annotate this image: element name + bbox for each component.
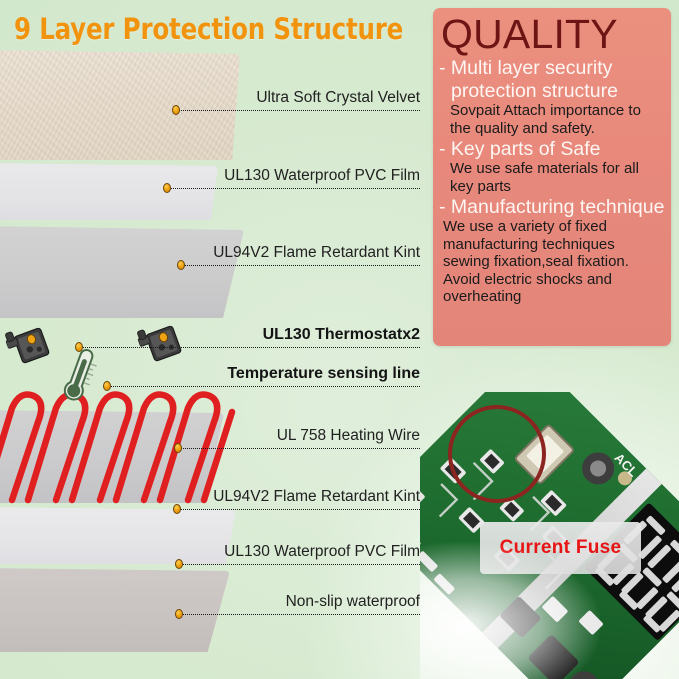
marker-dot-icon	[163, 183, 171, 193]
layer-callout-row: Temperature sensing line	[0, 386, 424, 387]
marker-dot-icon	[103, 381, 111, 391]
callout-leader-line	[181, 265, 420, 266]
layer-label: UL130 Thermostatx2	[263, 326, 420, 344]
callout-leader-line	[79, 347, 420, 348]
layer-slab-velvet	[0, 50, 240, 160]
layer-callout-row: UL130 Thermostatx2	[0, 347, 424, 348]
quality-section-1-head-line1: - Multi layer security	[439, 57, 665, 79]
layer-callout-row: Ultra Soft Crystal Velvet	[0, 110, 424, 111]
layer-slab-nonslip	[0, 568, 230, 652]
callout-leader-line	[179, 564, 420, 565]
layer-callout-row: UL 758 Heating Wire	[0, 448, 424, 449]
quality-section-3-head-line1: - Manufacturing technique	[439, 196, 665, 218]
quality-panel: QUALITY - Multi layer security protectio…	[433, 8, 671, 346]
current-fuse-callout: Current Fuse	[480, 522, 641, 574]
layer-label: UL 758 Heating Wire	[277, 427, 420, 445]
current-fuse-label: Current Fuse	[500, 537, 622, 559]
thermostat-module-icon	[2, 318, 57, 371]
layer-label: Ultra Soft Crystal Velvet	[256, 89, 420, 107]
callout-leader-line	[177, 509, 420, 510]
marker-dot-icon	[177, 260, 185, 270]
infographic-canvas: Ultra Soft Crystal VelvetUL130 Waterproo…	[0, 0, 679, 679]
layer-label: UL94V2 Flame Retardant Kint	[213, 488, 420, 506]
layer-slab-pvc-bottom	[0, 507, 236, 564]
marker-dot-icon	[175, 559, 183, 569]
callout-leader-line	[176, 110, 420, 111]
layer-callout-row: Non-slip waterproof	[0, 614, 424, 615]
layer-label: UL94V2 Flame Retardant Kint	[213, 244, 420, 262]
callout-leader-line	[107, 386, 420, 387]
callout-leader-line	[178, 448, 420, 449]
layer-label: UL130 Waterproof PVC Film	[224, 167, 420, 185]
layer-callout-row: UL94V2 Flame Retardant Kint	[0, 265, 424, 266]
quality-section-3-body: We use a variety of fixed manufacturing …	[439, 218, 665, 306]
layer-callout-row: UL130 Waterproof PVC Film	[0, 564, 424, 565]
callout-leader-line	[167, 188, 420, 189]
layer-label: UL130 Waterproof PVC Film	[224, 543, 420, 561]
page-title: 9 Layer Protection Structure	[14, 12, 403, 46]
marker-dot-icon	[175, 609, 183, 619]
quality-section-2-head-line1: - Key parts of Safe	[439, 138, 665, 160]
quality-heading: QUALITY	[441, 12, 665, 56]
thermometer-icon	[55, 348, 99, 404]
layer-callout-row: UL130 Waterproof PVC Film	[0, 188, 424, 189]
thermostat-module-icon-2	[134, 316, 189, 369]
layer-slab-pvc-top	[0, 163, 218, 220]
marker-dot-icon	[172, 105, 180, 115]
marker-dot-icon	[75, 342, 83, 352]
pcb-photo: ACL	[420, 392, 679, 679]
marker-dot-icon	[174, 443, 182, 453]
layer-label: Non-slip waterproof	[286, 593, 420, 611]
layer-label: Temperature sensing line	[227, 365, 420, 383]
quality-section-1-head-line2: protection structure	[439, 80, 665, 102]
layer-slab-knit-top	[0, 226, 244, 318]
quality-section-2-body: We use safe materials for all key parts	[439, 160, 665, 195]
layer-callout-row: UL94V2 Flame Retardant Kint	[0, 509, 424, 510]
callout-leader-line	[179, 614, 420, 615]
marker-dot-icon	[173, 504, 181, 514]
quality-section-1-body: Sovpait Attach importance to the quality…	[439, 102, 665, 137]
